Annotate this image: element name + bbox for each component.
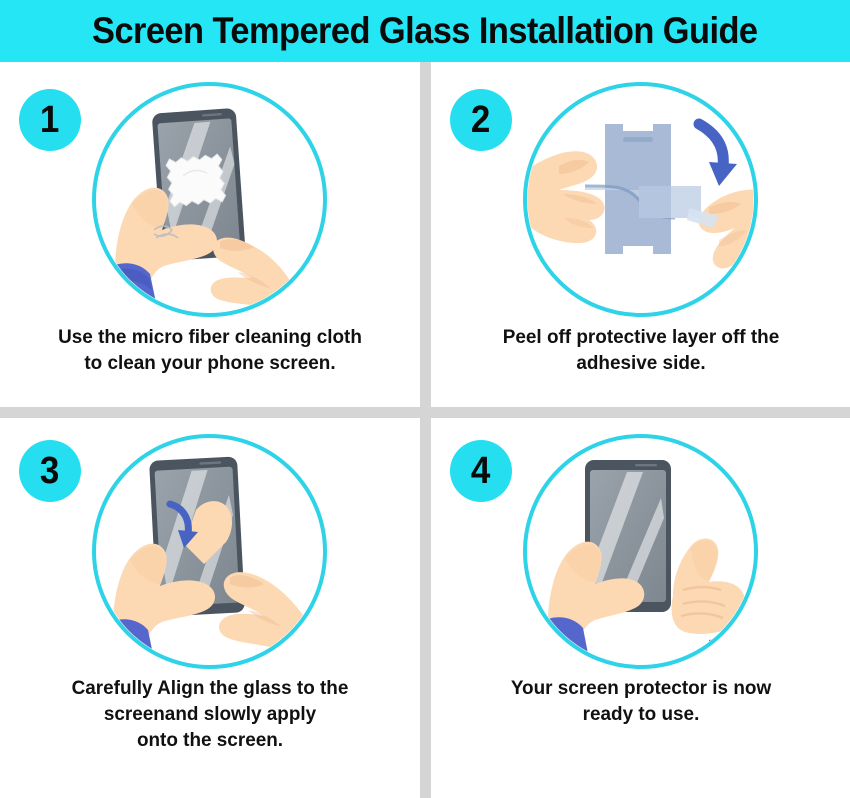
step-caption-4: Your screen protector is now ready to us… xyxy=(447,676,835,728)
illustration-ring xyxy=(92,434,327,669)
infographic-page: Screen Tempered Glass Installation Guide… xyxy=(0,0,850,798)
step-panel-1: 1 xyxy=(0,62,420,407)
step-number-label: 4 xyxy=(471,452,490,490)
step-badge-1: 1 xyxy=(19,89,81,151)
step-illustration-2 xyxy=(523,82,758,317)
steps-grid: 1 xyxy=(0,62,850,798)
vertical-divider xyxy=(420,62,431,798)
caption-line: adhesive side. xyxy=(447,351,835,377)
step-panel-3: 3 xyxy=(0,418,420,798)
step-illustration-3 xyxy=(92,434,327,669)
step-caption-3: Carefully Align the glass to the screena… xyxy=(16,676,404,754)
step-number-label: 3 xyxy=(40,452,59,490)
step-caption-1: Use the micro fiber cleaning cloth to cl… xyxy=(16,325,404,377)
caption-line: ready to use. xyxy=(447,702,835,728)
step-badge-4: 4 xyxy=(450,440,512,502)
illustration-ring xyxy=(92,82,327,317)
caption-line: to clean your phone screen. xyxy=(16,351,404,377)
step-panel-4: 4 xyxy=(431,418,850,798)
header-banner: Screen Tempered Glass Installation Guide xyxy=(0,0,850,62)
horizontal-divider xyxy=(0,407,850,418)
caption-line: Use the micro fiber cleaning cloth xyxy=(16,325,404,351)
illustration-ring xyxy=(523,82,758,317)
step-panel-2: 2 xyxy=(431,62,850,407)
step-number-label: 1 xyxy=(40,101,59,139)
illustration-ring xyxy=(523,434,758,669)
step-badge-2: 2 xyxy=(450,89,512,151)
caption-line: screenand slowly apply xyxy=(16,702,404,728)
caption-line: Peel off protective layer off the xyxy=(447,325,835,351)
page-title: Screen Tempered Glass Installation Guide xyxy=(92,10,757,52)
step-caption-2: Peel off protective layer off the adhesi… xyxy=(447,325,835,377)
step-badge-3: 3 xyxy=(19,440,81,502)
step-number-label: 2 xyxy=(471,101,490,139)
step-illustration-1 xyxy=(92,82,327,317)
step-illustration-4 xyxy=(523,434,758,669)
caption-line: onto the screen. xyxy=(16,728,404,754)
caption-line: Carefully Align the glass to the xyxy=(16,676,404,702)
caption-line: Your screen protector is now xyxy=(447,676,835,702)
